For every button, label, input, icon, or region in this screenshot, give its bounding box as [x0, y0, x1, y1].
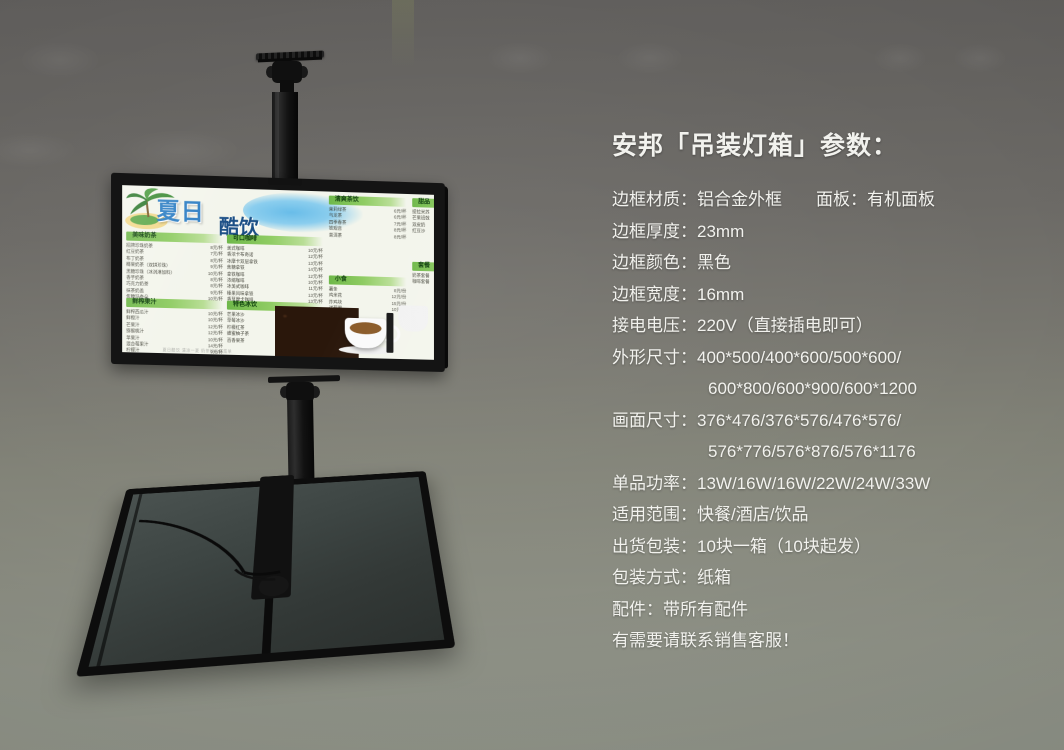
spec-title: 安邦「吊装灯箱」参数：	[612, 126, 1042, 162]
spec-line: 单品功率：13W/16W/16W/22W/24W/33W	[612, 468, 1042, 500]
menu-section-header: 美味奶茶	[126, 232, 223, 244]
menu-item-name: 普洱茶	[329, 232, 342, 239]
screen-top-bracket-tab	[268, 178, 302, 186]
menu-section-title: 甜品	[418, 198, 430, 207]
menu-section-title: 小食	[335, 276, 347, 285]
menu-section-title: 清爽茶饮	[335, 196, 359, 206]
menu-watermark: 夏日酷饮 清凉一夏 奶茶饮品店菜单	[163, 347, 232, 355]
coffee-cup-front	[345, 318, 387, 349]
menu-item-name: 百香果茶	[227, 337, 245, 344]
menu-section: 甜品提拉米苏15元/份芒果班戟14元/份双皮奶10元/份红豆沙8元/份	[412, 198, 434, 237]
menu-section-title: 美味奶茶	[132, 232, 156, 242]
menu-section-title: 鲜榨果汁	[132, 298, 156, 308]
spec-line: 600*800/600*900/600*1200	[612, 373, 1042, 405]
menu-section-title: 套餐	[418, 262, 430, 271]
spec-line: 适用范围：快餐/酒店/饮品	[612, 499, 1042, 531]
menu-section: 套餐奶茶套餐18元/份咖啡套餐22元/份	[412, 262, 434, 288]
screen-bezel: 夏日 酷饮 美味奶茶招牌珍珠奶茶8元/杯红豆奶茶7元/杯布丁奶茶8元/杯椰果奶茶…	[111, 173, 445, 372]
menu-artwork: 夏日 酷饮 美味奶茶招牌珍珠奶茶8元/杯红豆奶茶7元/杯布丁奶茶8元/杯椰果奶茶…	[122, 185, 434, 360]
menu-section-header: 小食	[329, 275, 406, 286]
spec-line-list: 边框材质：铝合金外框 面板：有机面板边框厚度：23mm边框颜色：黑色边框宽度：1…	[612, 184, 1042, 657]
menu-section-header: 可口咖啡	[227, 234, 323, 246]
menu-item-row: 葡萄汁11元/杯	[126, 354, 223, 360]
menu-title-main: 夏日	[156, 191, 204, 227]
spec-line: 边框宽度：16mm	[612, 279, 1042, 311]
menu-section: 美味奶茶招牌珍珠奶茶8元/杯红豆奶茶7元/杯布丁奶茶8元/杯椰果奶茶（双拼珍珠）…	[126, 232, 223, 304]
coffee-cup-back	[398, 305, 428, 332]
spec-line: 画面尺寸：376*476/376*576/476*576/	[612, 405, 1042, 437]
menu-section-header: 甜品	[412, 198, 434, 209]
menu-item-price: 8元/杯	[394, 234, 406, 241]
coffee-photo	[275, 298, 434, 360]
menu-section-header: 鲜榨果汁	[126, 298, 223, 310]
menu-item-name: 咖啡套餐	[412, 279, 429, 286]
spec-line: 接电电压：220V（直接插电即可）	[612, 310, 1042, 342]
specification-panel: 安邦「吊装灯箱」参数： 边框材质：铝合金外框 面板：有机面板边框厚度：23mm边…	[612, 126, 1042, 657]
menu-item-name: 红豆沙	[412, 228, 425, 235]
menu-item-row: 普洱茶8元/杯	[329, 232, 406, 241]
spec-line: 边框厚度：23mm	[612, 216, 1042, 248]
menu-item-name: 柠檬汁	[126, 348, 139, 355]
menu-section-header: 清爽茶饮	[329, 196, 406, 207]
led-light-box-front: 夏日 酷饮 美味奶茶招牌珍珠奶茶8元/杯红豆奶茶7元/杯布丁奶茶8元/杯椰果奶茶…	[108, 172, 450, 372]
menu-photo-strip	[386, 313, 393, 353]
spec-line: 边框材质：铝合金外框 面板：有机面板	[612, 184, 1042, 216]
spec-line: 576*776/576*876/576*1176	[612, 436, 1042, 468]
menu-section: 可口咖啡美式咖啡10元/杯香浓卡布奇诺12元/杯冰摩卡双层拿铁13元/杯焦糖拿铁…	[227, 234, 323, 305]
spec-line: 有需要请联系销售客服！	[612, 625, 1042, 657]
spec-line: 包装方式：纸箱	[612, 562, 1042, 594]
menu-item-row: 咖啡套餐22元/份	[412, 279, 434, 287]
menu-item-name: 葡萄汁	[126, 354, 139, 360]
product-photo-scene: 夏日 酷饮 美味奶茶招牌珍珠奶茶8元/杯红豆奶茶7元/杯布丁奶茶8元/杯椰果奶茶…	[0, 0, 1064, 750]
menu-section: 清爽茶饮茉莉绿茶6元/杯乌龙茶6元/杯四季春茶7元/杯铁观音8元/杯普洱茶8元/…	[329, 196, 406, 241]
spec-line: 出货包装：10块一箱（10块起发）	[612, 531, 1042, 563]
light-box-rear-panel	[76, 471, 456, 677]
menu-section-title: 可口咖啡	[233, 235, 257, 245]
spec-line: 外形尺寸：400*500/400*600/500*600/	[612, 342, 1042, 374]
menu-section-title: 特色冰饮	[233, 301, 257, 311]
menu-section-header: 套餐	[412, 262, 434, 273]
spec-line: 边框颜色：黑色	[612, 247, 1042, 279]
power-cable	[119, 490, 330, 604]
spec-line: 配件：带所有配件	[612, 594, 1042, 626]
lower-swivel-joint	[286, 382, 314, 402]
menu-item-price: 11元/杯	[208, 356, 223, 360]
